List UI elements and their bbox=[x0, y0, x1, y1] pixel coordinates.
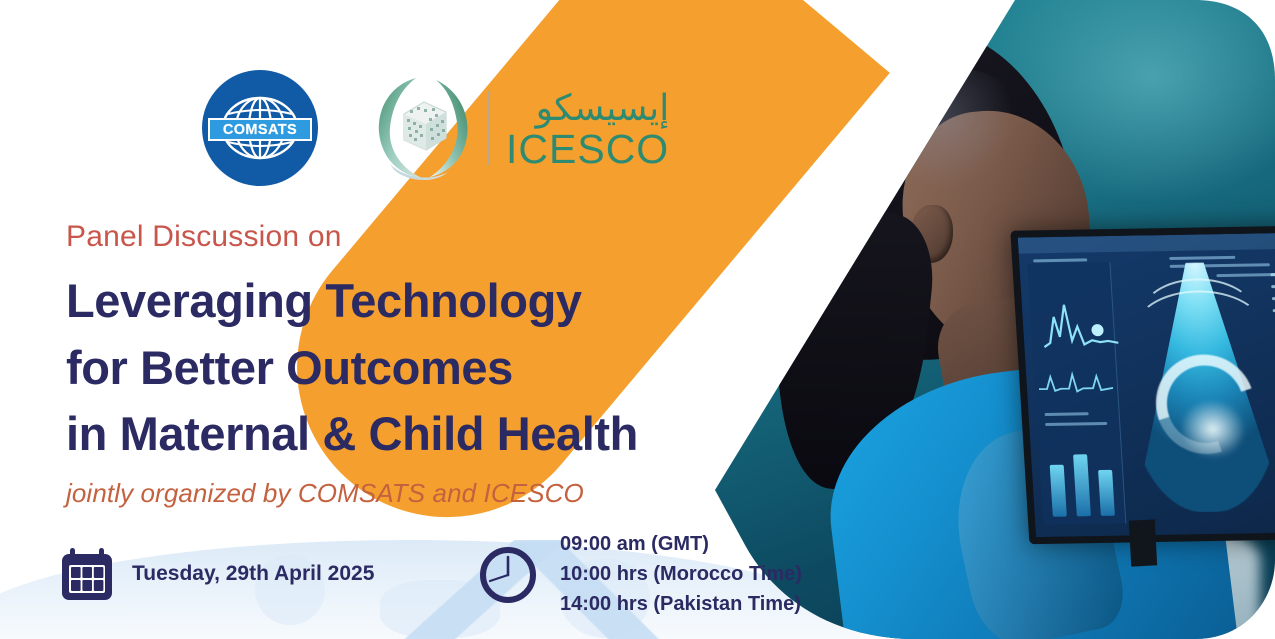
waveform-icon bbox=[1039, 296, 1121, 355]
icesco-swirl-cube-icon bbox=[370, 72, 480, 184]
event-poster: COMSATS bbox=[0, 0, 1275, 639]
comsats-logo: COMSATS bbox=[200, 68, 340, 188]
ultrasound-monitor bbox=[1010, 226, 1275, 544]
monitor-bar bbox=[1098, 470, 1115, 516]
event-date-text: Tuesday, 29th April 2025 bbox=[132, 562, 374, 586]
monitor-bar bbox=[1073, 454, 1091, 516]
calendar-icon bbox=[60, 546, 114, 602]
event-date-block: Tuesday, 29th April 2025 bbox=[60, 546, 374, 602]
icesco-wordmark: إيسيسكو ICESCO bbox=[506, 87, 669, 170]
time-entry: 10:00 hrs (Morocco Time) bbox=[560, 563, 802, 586]
time-entry: 09:00 am (GMT) bbox=[560, 533, 802, 556]
monitor-label bbox=[1169, 256, 1235, 260]
icesco-logo: إيسيسكو ICESCO bbox=[370, 69, 645, 187]
icesco-latin-wordmark: ICESCO bbox=[506, 129, 669, 170]
monitor-side-panel bbox=[1027, 262, 1126, 525]
comsats-wordmark-band: COMSATS bbox=[208, 118, 312, 141]
subtitle-text: jointly organized by COMSATS and ICESCO bbox=[66, 478, 584, 509]
logo-row: COMSATS bbox=[200, 68, 645, 188]
monitor-label bbox=[1270, 273, 1275, 276]
monitor-label bbox=[1044, 412, 1088, 416]
monitor-label bbox=[1271, 285, 1275, 288]
time-list: 09:00 am (GMT) 10:00 hrs (Morocco Time) … bbox=[560, 533, 802, 616]
monitor-label bbox=[1216, 273, 1275, 277]
clock-icon bbox=[478, 545, 538, 605]
monitor-top-bar bbox=[1018, 233, 1275, 254]
logo-divider bbox=[488, 91, 490, 165]
title-line-2: for Better Outcomes bbox=[66, 335, 786, 402]
title-line-1: Leveraging Technology bbox=[66, 268, 786, 335]
title-line-3: in Maternal & Child Health bbox=[66, 401, 786, 468]
monitor-bar bbox=[1050, 465, 1067, 517]
comsats-wordmark: COMSATS bbox=[223, 122, 297, 138]
monitor-label bbox=[1045, 422, 1107, 426]
monitor-stand bbox=[1129, 519, 1157, 566]
ecg-trace-icon bbox=[1038, 366, 1114, 397]
kicker-text: Panel Discussion on bbox=[66, 220, 342, 254]
page-title: Leveraging Technology for Better Outcome… bbox=[66, 268, 786, 468]
event-time-block: 09:00 am (GMT) 10:00 hrs (Morocco Time) … bbox=[478, 533, 802, 616]
icesco-arabic-wordmark: إيسيسكو bbox=[506, 87, 669, 131]
monitor-screen bbox=[1018, 233, 1275, 537]
time-entry: 14:00 hrs (Pakistan Time) bbox=[560, 593, 802, 616]
